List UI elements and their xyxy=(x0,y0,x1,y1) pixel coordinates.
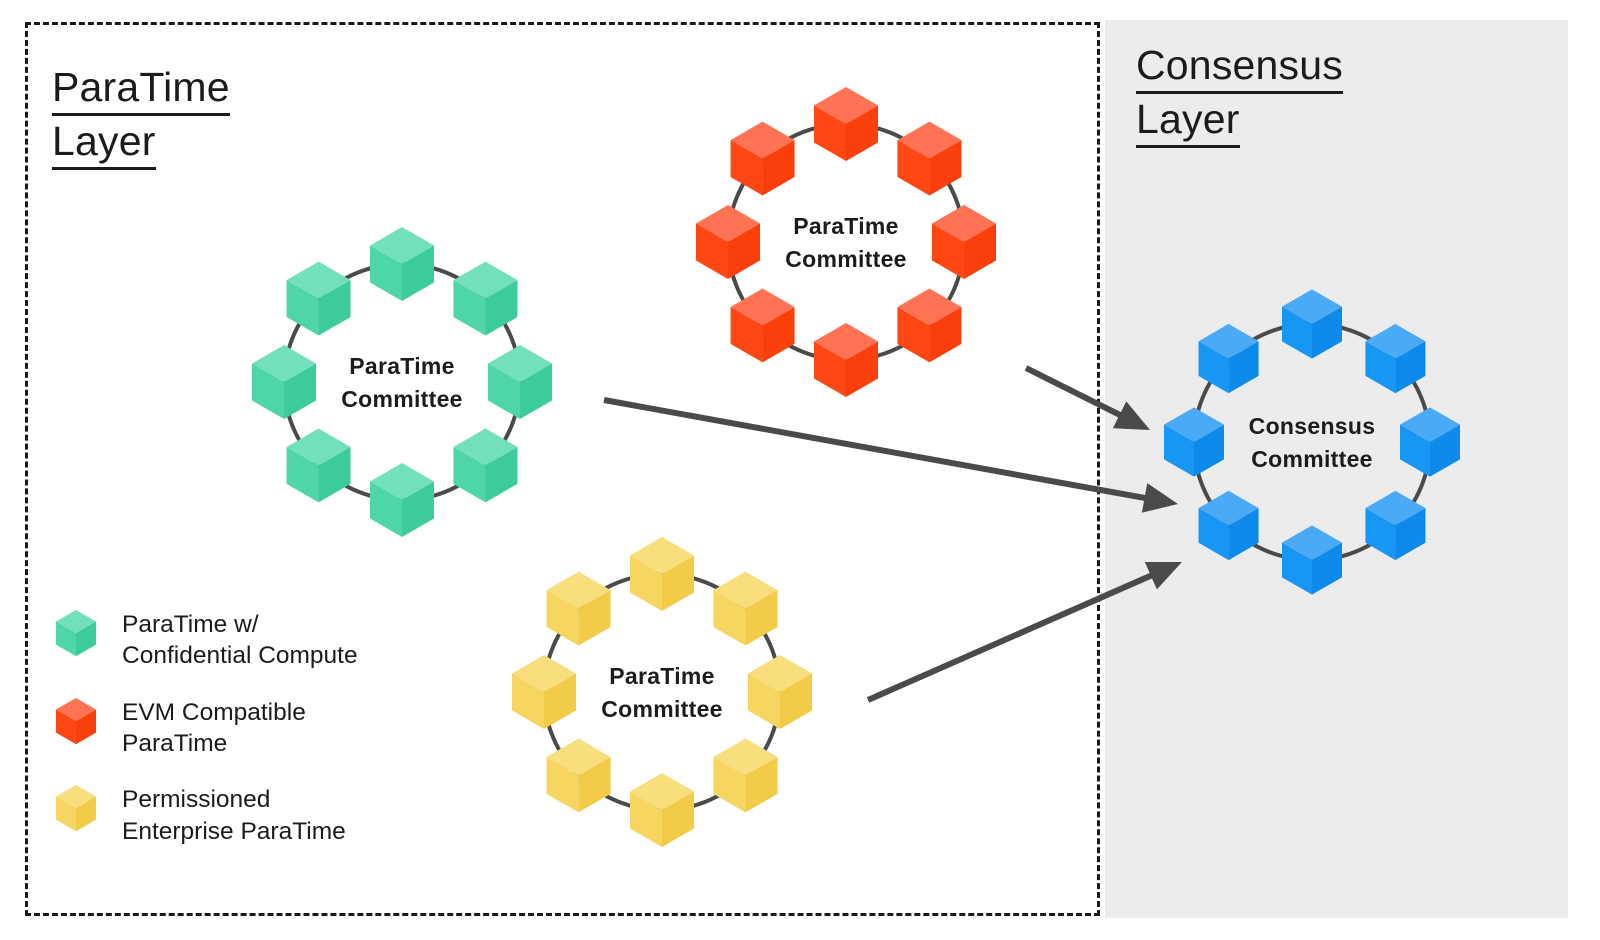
committee-node-cube-icon xyxy=(453,428,517,502)
legend-item-label: Permissioned Enterprise ParaTime xyxy=(122,783,346,847)
committee-node-cube-icon xyxy=(1199,324,1259,393)
committee-node-cube-icon xyxy=(713,572,777,646)
committee-node-cube-icon xyxy=(1365,324,1425,393)
committee-node-cube-icon xyxy=(1400,407,1460,476)
committee-node-cube-icon xyxy=(252,345,316,419)
committee-node-cube-icon xyxy=(814,323,878,397)
committee-ring xyxy=(676,72,1016,412)
legend-item-label: EVM Compatible ParaTime xyxy=(122,696,306,760)
paratime-committee-yellow: ParaTime Committee xyxy=(492,522,832,862)
paratime-committee-green: ParaTime Committee xyxy=(232,212,572,552)
committee-node-cube-icon xyxy=(1199,491,1259,560)
committee-node-cube-icon xyxy=(932,205,996,279)
committee-node-cube-icon xyxy=(897,122,961,196)
committee-node-cube-icon xyxy=(814,87,878,161)
committee-node-cube-icon xyxy=(370,227,434,301)
committee-ring xyxy=(492,522,832,862)
legend-item-confidential-compute: ParaTime w/ Confidential Compute xyxy=(56,608,476,672)
committee-node-cube-icon xyxy=(748,655,812,729)
legend: ParaTime w/ Confidential Compute EVM Com… xyxy=(56,608,476,871)
legend-item-label: ParaTime w/ Confidential Compute xyxy=(122,608,358,672)
committee-node-cube-icon xyxy=(512,655,576,729)
consensus-committee-blue: Consensus Committee xyxy=(1142,272,1482,612)
committee-node-cube-icon xyxy=(453,262,517,336)
committee-node-cube-icon xyxy=(547,738,611,812)
committee-node-cube-icon xyxy=(897,288,961,362)
committee-node-cube-icon xyxy=(488,345,552,419)
committee-node-cube-icon xyxy=(1164,407,1224,476)
committee-node-cube-icon xyxy=(696,205,760,279)
committee-node-cube-icon xyxy=(1282,525,1342,594)
cube-icon xyxy=(56,785,96,831)
committee-ring xyxy=(1142,272,1482,612)
consensus-layer-title: ConsensusLayer xyxy=(1136,40,1343,148)
diagram-canvas: ParaTimeLayer ConsensusLayer ParaTime w/… xyxy=(0,0,1600,940)
committee-node-cube-icon xyxy=(630,537,694,611)
paratime-layer-title: ParaTimeLayer xyxy=(52,62,230,170)
legend-item-evm-compatible: EVM Compatible ParaTime xyxy=(56,696,476,760)
committee-node-cube-icon xyxy=(1365,491,1425,560)
committee-node-cube-icon xyxy=(287,428,351,502)
paratime-committee-red: ParaTime Committee xyxy=(676,72,1016,412)
legend-item-permissioned-enterprise: Permissioned Enterprise ParaTime xyxy=(56,783,476,847)
committee-node-cube-icon xyxy=(731,122,795,196)
committee-node-cube-icon xyxy=(287,262,351,336)
committee-node-cube-icon xyxy=(370,463,434,537)
committee-ring xyxy=(232,212,572,552)
committee-node-cube-icon xyxy=(713,738,777,812)
committee-node-cube-icon xyxy=(1282,289,1342,358)
cube-icon xyxy=(56,610,96,656)
committee-node-cube-icon xyxy=(547,572,611,646)
committee-node-cube-icon xyxy=(630,773,694,847)
cube-icon xyxy=(56,698,96,744)
committee-node-cube-icon xyxy=(731,288,795,362)
